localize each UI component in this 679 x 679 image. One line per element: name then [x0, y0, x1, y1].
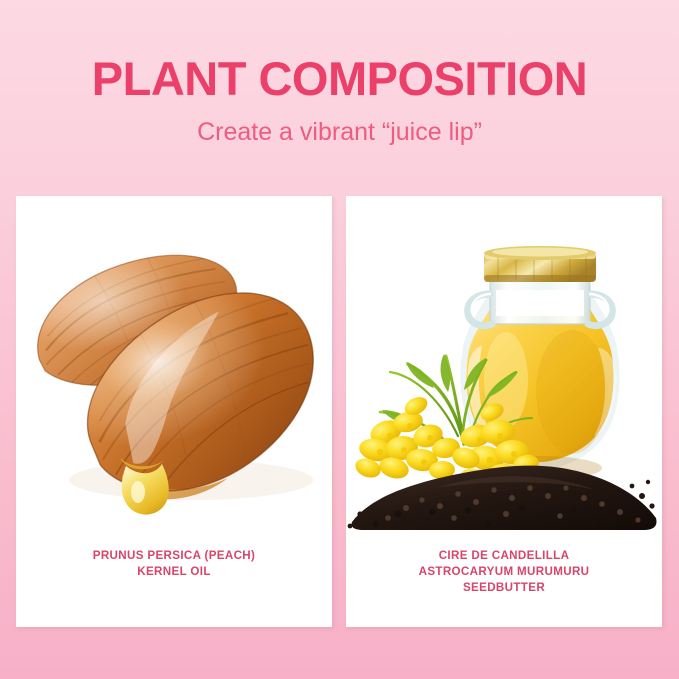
- caption-line: SEEDBUTTER: [356, 580, 652, 596]
- ingredient-card-peach-kernel-oil: PRUNUS PERSICA (PEACH) KERNEL OIL: [16, 196, 332, 627]
- caption-line: KERNEL OIL: [26, 564, 322, 580]
- card-caption-peach-kernel-oil: PRUNUS PERSICA (PEACH) KERNEL OIL: [26, 548, 322, 580]
- caption-line: CIRE DE CANDELILLA: [356, 548, 652, 564]
- ingredient-card-candelilla-murumuru: CIRE DE CANDELILLA ASTROCARYUM MURUMURU …: [346, 196, 662, 627]
- page-title: PLANT COMPOSITION: [0, 52, 679, 106]
- plant-composition-poster: PLANT COMPOSITION Create a vibrant “juic…: [0, 0, 679, 679]
- page-subtitle: Create a vibrant “juice lip”: [0, 116, 679, 148]
- flower-cluster-left: [353, 394, 462, 482]
- almonds-with-oil-drop-photo: [16, 196, 332, 541]
- card-caption-candelilla-murumuru: CIRE DE CANDELILLA ASTROCARYUM MURUMURU …: [356, 548, 652, 596]
- honey-jar-with-flowers-and-seeds-photo: [346, 196, 662, 541]
- caption-line: ASTROCARYUM MURUMURU: [356, 564, 652, 580]
- caption-line: PRUNUS PERSICA (PEACH): [26, 548, 322, 564]
